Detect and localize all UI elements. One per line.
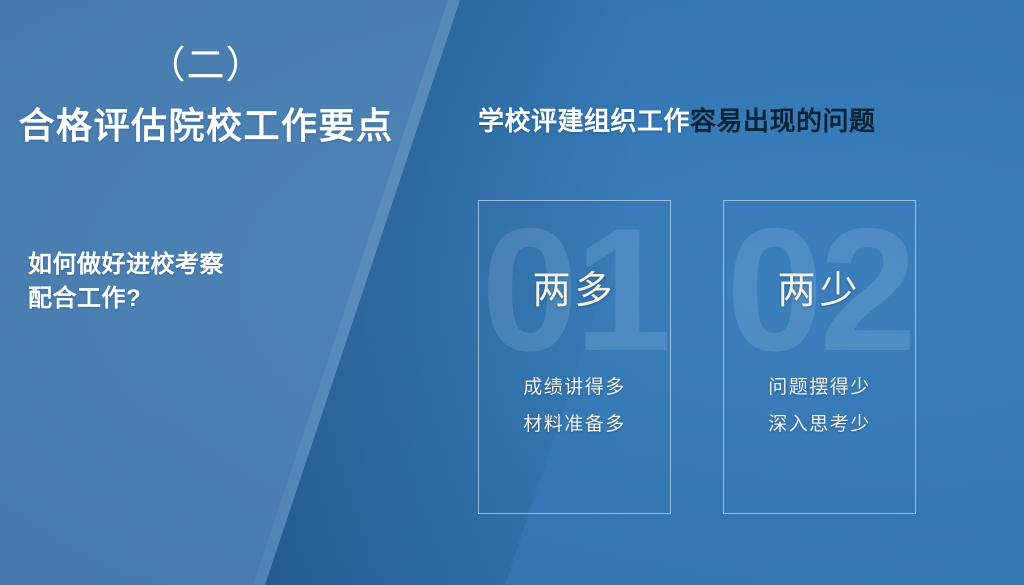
card-two-many: 01 两多 成绩讲得多 材料准备多 (478, 200, 671, 514)
section-question: 如何做好进校考察 配合工作? (28, 248, 348, 316)
left-column: （二） 合格评估院校工作要点 如何做好进校考察 配合工作? (0, 0, 420, 585)
card-item-list: 问题摆得少 深入思考少 (724, 369, 915, 443)
right-heading: 学校评建组织工作容易出现的问题 (478, 105, 928, 138)
section-number: （二） (0, 46, 412, 88)
list-item: 深入思考少 (724, 406, 915, 443)
problem-cards: 01 两多 成绩讲得多 材料准备多 02 两少 问题摆得少 深入思考少 (478, 200, 918, 516)
card-two-few: 02 两少 问题摆得少 深入思考少 (723, 200, 916, 514)
right-heading-primary: 学校评建组织工作 (478, 106, 690, 136)
section-question-line-1: 如何做好进校考察 (28, 248, 348, 282)
card-item-list: 成绩讲得多 材料准备多 (479, 369, 670, 443)
section-title: 合格评估院校工作要点 (0, 104, 412, 147)
list-item: 成绩讲得多 (479, 369, 670, 406)
card-title: 两多 (479, 259, 670, 314)
list-item: 材料准备多 (479, 406, 670, 443)
section-question-line-2: 配合工作? (28, 282, 348, 316)
list-item: 问题摆得少 (724, 369, 915, 406)
slide-canvas: （二） 合格评估院校工作要点 如何做好进校考察 配合工作? 学校评建组织工作容易… (0, 0, 1024, 585)
right-heading-secondary: 容易出现的问题 (690, 106, 876, 136)
card-title: 两少 (724, 259, 915, 314)
